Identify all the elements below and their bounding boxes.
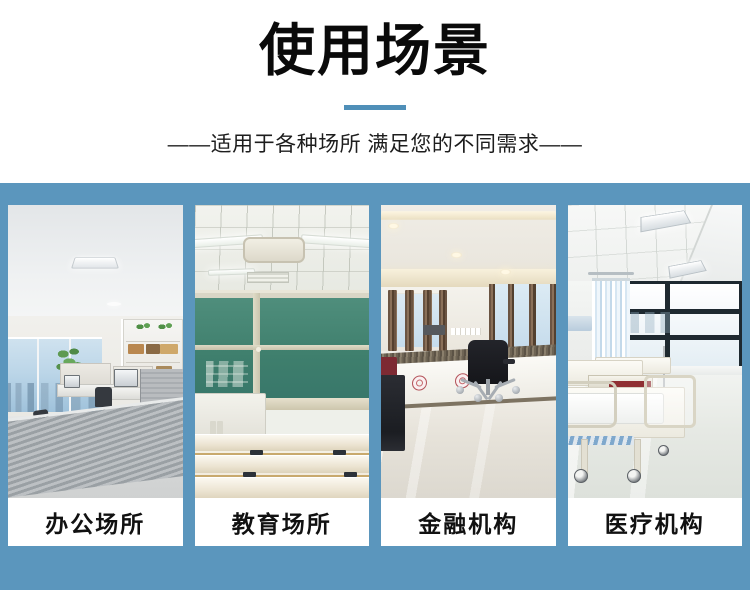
bank-kiosk: [381, 375, 405, 451]
shelf-row: [126, 362, 181, 364]
classroom-scene-illustration: [195, 205, 370, 498]
scenarios-band: 办公场所: [0, 183, 750, 590]
desk-row: [195, 477, 370, 498]
shelf-row: [126, 341, 181, 343]
scenario-card-office[interactable]: 办公场所: [8, 205, 183, 546]
window-curtain: [405, 290, 414, 352]
scenario-photo-medical: [568, 205, 743, 498]
green-chalkboard: [195, 298, 370, 406]
bed-side-rail: [644, 375, 695, 428]
desk-row: [195, 455, 370, 473]
chalk-writing: [206, 361, 247, 387]
scenario-label-finance: 金融机构: [381, 498, 556, 546]
office-scene-illustration: [8, 205, 183, 498]
window-curtain: [423, 290, 432, 352]
counter-emblem-icon: [412, 376, 427, 392]
window-curtain: [439, 290, 448, 352]
chalkboard-divider: [195, 345, 254, 350]
chair-caster: [512, 386, 520, 394]
office-chair: [95, 387, 112, 407]
chalkboard-divider: [253, 345, 369, 350]
ceiling-cove-light: [381, 211, 556, 219]
curtain-rail: [588, 272, 633, 275]
ceiling-panel-light-icon: [71, 257, 119, 268]
desk-fitting: [250, 450, 263, 455]
usage-scenarios-page: 使用场景 ——适用于各种场所 满足您的不同需求——: [0, 0, 750, 590]
chair-caster: [495, 394, 503, 402]
desk-fitting: [333, 450, 346, 455]
scenario-label-office: 办公场所: [8, 498, 183, 546]
page-title: 使用场景: [0, 15, 750, 87]
desk-fitting: [344, 472, 357, 477]
shelf-plant-icon: [134, 322, 154, 334]
scenario-card-finance[interactable]: 金融机构: [381, 205, 556, 546]
shelf-box: [160, 344, 178, 354]
counter-papers: [451, 328, 481, 335]
page-subtitle: ——适用于各种场所 满足您的不同需求——: [0, 130, 750, 160]
bed-base-stripe: [568, 436, 634, 445]
chair-base: [460, 382, 516, 394]
projector-icon: [243, 237, 305, 263]
window-mullion: [616, 335, 739, 340]
wall-lamp-icon: [568, 316, 592, 331]
ceiling-vent-icon: [247, 272, 289, 283]
desk-fitting: [243, 472, 256, 477]
scenario-label-medical: 医疗机构: [568, 498, 743, 546]
bed-caster: [627, 469, 641, 483]
chalk-ledge: [261, 398, 369, 410]
hospital-scene-illustration: [568, 205, 743, 498]
office-ceiling: [8, 205, 183, 334]
recessed-downlight-icon: [388, 223, 399, 229]
bank-floor: [381, 398, 556, 498]
desk-row: [195, 434, 370, 452]
monitor-icon: [64, 375, 80, 388]
scenario-photo-education: [195, 205, 370, 498]
bank-scene-illustration: [381, 205, 556, 498]
shelf-box: [128, 344, 144, 354]
window-curtain: [388, 290, 397, 352]
title-divider-rule: [344, 105, 406, 110]
scenario-card-education[interactable]: 教育场所: [195, 205, 370, 546]
bank-office-chair: [468, 340, 508, 384]
counter-equipment: [423, 325, 445, 335]
page-header: 使用场景 ——适用于各种场所 满足您的不同需求——: [0, 0, 750, 183]
classroom-desks: [195, 434, 370, 498]
chair-armrest: [503, 359, 515, 364]
bed-side-rail: [568, 381, 618, 428]
chair-caster: [456, 386, 464, 394]
scenario-card-medical[interactable]: 医疗机构: [568, 205, 743, 546]
shelf-box: [146, 344, 160, 354]
recessed-downlight-icon: [451, 252, 462, 258]
scenario-photo-finance: [381, 205, 556, 498]
office-downlight-icon: [107, 302, 121, 306]
shelf-plant-icon: [156, 322, 176, 334]
scenario-photo-office: [8, 205, 183, 498]
hospital-window: [613, 281, 742, 369]
monitor-icon: [114, 369, 138, 387]
scenario-card-list: 办公场所: [8, 205, 742, 546]
scenario-label-education: 教育场所: [195, 498, 370, 546]
